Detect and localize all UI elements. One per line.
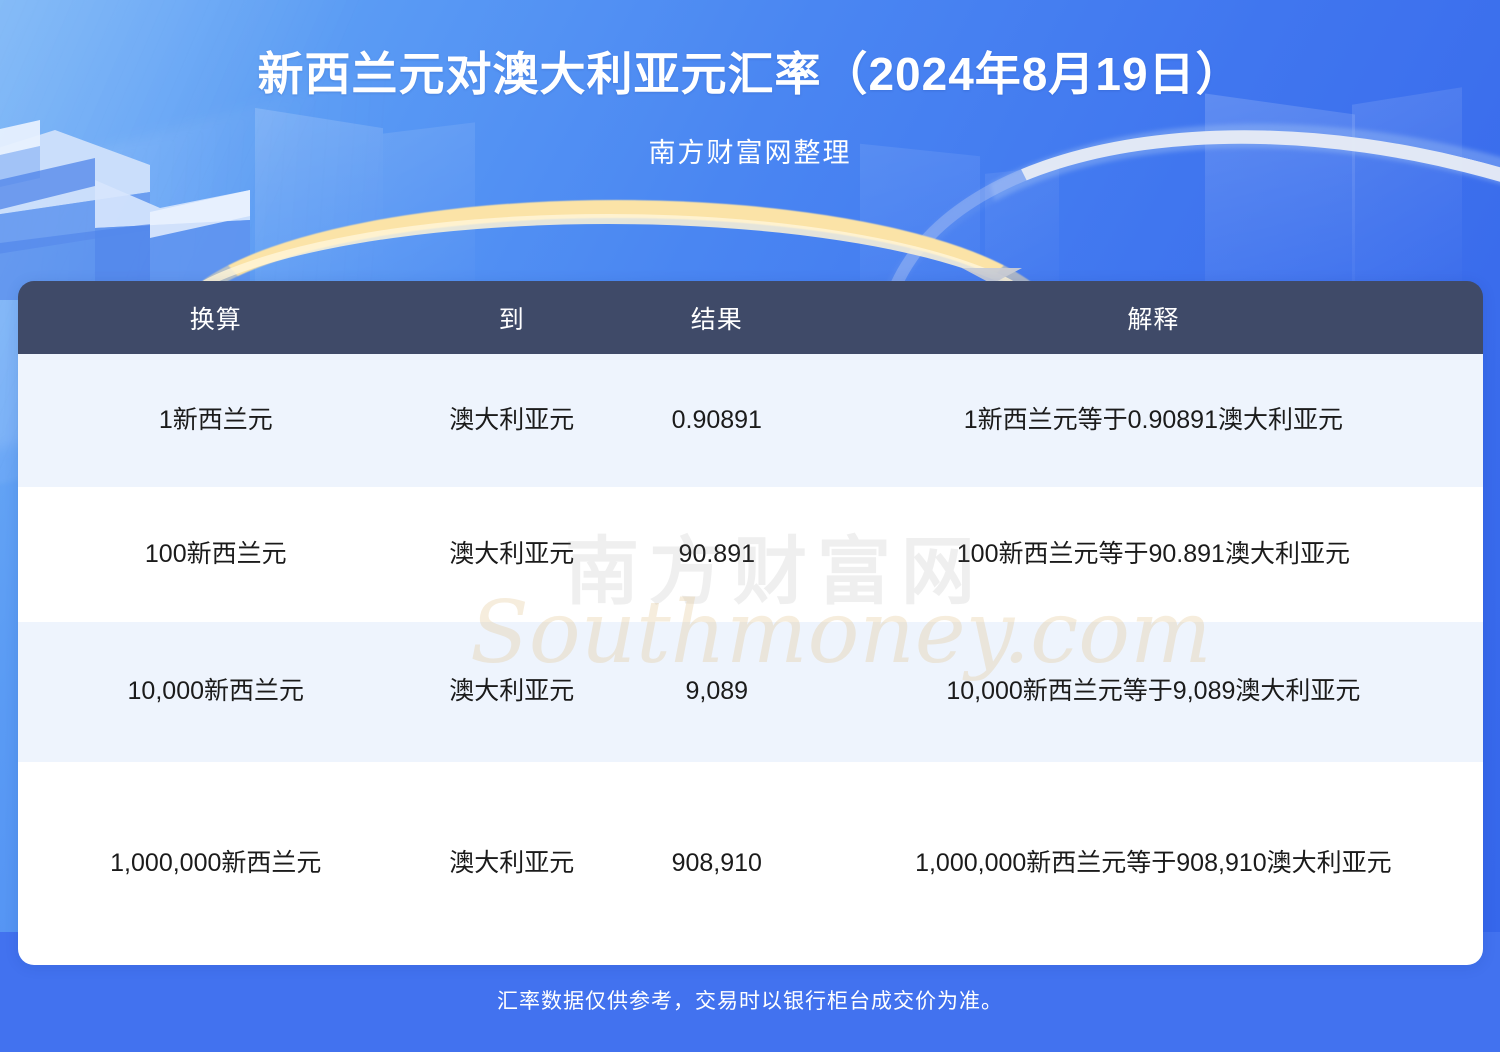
column-header-from: 换算 xyxy=(18,281,414,354)
page-subtitle: 南方财富网整理 xyxy=(0,131,1500,170)
cell-explanation: 1,000,000新西兰元等于908,910澳大利亚元 xyxy=(824,762,1483,965)
exchange-rate-table-card: 换算 到 结果 解释 1新西兰元 澳大利亚元 0.90891 1新西兰元等于0.… xyxy=(18,281,1483,965)
cell-result: 0.90891 xyxy=(610,354,824,487)
table-row: 10,000新西兰元 澳大利亚元 9,089 10,000新西兰元等于9,089… xyxy=(18,622,1483,762)
cell-from: 1新西兰元 xyxy=(18,354,414,487)
cell-result: 9,089 xyxy=(610,622,824,762)
cell-from: 100新西兰元 xyxy=(18,487,414,622)
cell-to: 澳大利亚元 xyxy=(414,487,610,622)
footer-disclaimer: 汇率数据仅供参考，交易时以银行柜台成交价为准。 xyxy=(0,985,1500,1015)
cell-from: 1,000,000新西兰元 xyxy=(18,762,414,965)
cell-to: 澳大利亚元 xyxy=(414,622,610,762)
table-head: 换算 到 结果 解释 xyxy=(18,281,1483,354)
page-title: 新西兰元对澳大利亚元汇率（2024年8月19日） xyxy=(0,48,1500,101)
table-header-row: 换算 到 结果 解释 xyxy=(18,281,1483,354)
cell-to: 澳大利亚元 xyxy=(414,762,610,965)
cell-result: 90.891 xyxy=(610,487,824,622)
table-row: 100新西兰元 澳大利亚元 90.891 100新西兰元等于90.891澳大利亚… xyxy=(18,487,1483,622)
infographic-page: 新西兰元对澳大利亚元汇率（2024年8月19日） 南方财富网整理 南方财富网 S… xyxy=(0,0,1500,1052)
cell-explanation: 1新西兰元等于0.90891澳大利亚元 xyxy=(824,354,1483,487)
column-header-to: 到 xyxy=(414,281,610,354)
cell-result: 908,910 xyxy=(610,762,824,965)
page-header: 新西兰元对澳大利亚元汇率（2024年8月19日） 南方财富网整理 xyxy=(0,0,1500,170)
table-row: 1新西兰元 澳大利亚元 0.90891 1新西兰元等于0.90891澳大利亚元 xyxy=(18,354,1483,487)
cell-from: 10,000新西兰元 xyxy=(18,622,414,762)
cell-explanation: 10,000新西兰元等于9,089澳大利亚元 xyxy=(824,622,1483,762)
exchange-rate-table: 换算 到 结果 解释 1新西兰元 澳大利亚元 0.90891 1新西兰元等于0.… xyxy=(18,281,1483,965)
cell-to: 澳大利亚元 xyxy=(414,354,610,487)
column-header-result: 结果 xyxy=(610,281,824,354)
cell-explanation: 100新西兰元等于90.891澳大利亚元 xyxy=(824,487,1483,622)
column-header-explanation: 解释 xyxy=(824,281,1483,354)
table-row: 1,000,000新西兰元 澳大利亚元 908,910 1,000,000新西兰… xyxy=(18,762,1483,965)
table-body: 1新西兰元 澳大利亚元 0.90891 1新西兰元等于0.90891澳大利亚元 … xyxy=(18,354,1483,965)
